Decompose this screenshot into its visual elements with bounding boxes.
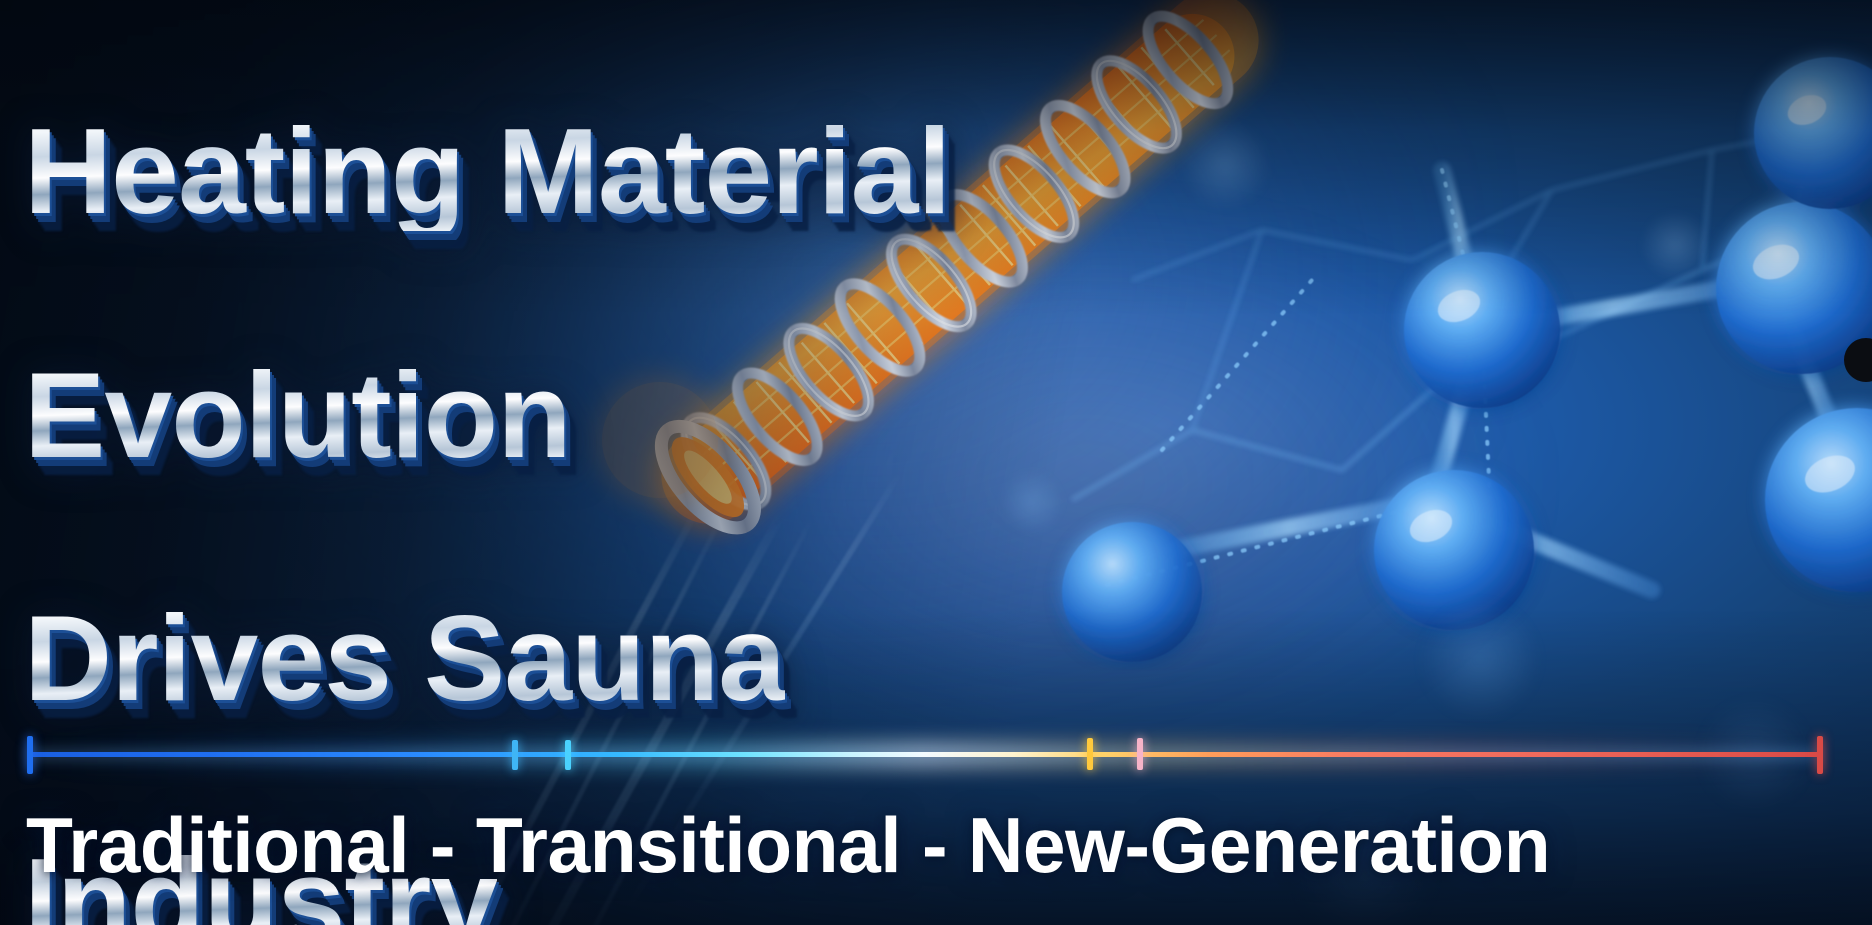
- timeline-tick-transitional-end: [1087, 738, 1093, 770]
- timeline-tick-traditional-start: [27, 736, 33, 774]
- timeline-tick-new-generation-start: [1137, 738, 1143, 770]
- title-line-text: Evolution: [24, 356, 571, 474]
- timeline-caption: Traditional - Transitional - New-Generat…: [26, 806, 1819, 884]
- title-line-text: Drives Sauna: [24, 599, 785, 717]
- timeline-axis: [27, 752, 1820, 757]
- title-line-text: Heating Material: [24, 112, 950, 230]
- timeline-tick-new-generation-end: [1817, 736, 1823, 774]
- title-line: Heating Material: [24, 112, 1204, 237]
- timeline-tick-transitional-start: [565, 740, 571, 770]
- material-evolution-timeline: [0, 726, 1872, 788]
- title-line: Evolution: [24, 356, 1204, 481]
- hero-banner: Heating Material Evolution Drives Sauna …: [0, 0, 1872, 925]
- title-line: Drives Sauna: [24, 599, 1204, 724]
- timeline-tick-traditional-end: [512, 740, 518, 770]
